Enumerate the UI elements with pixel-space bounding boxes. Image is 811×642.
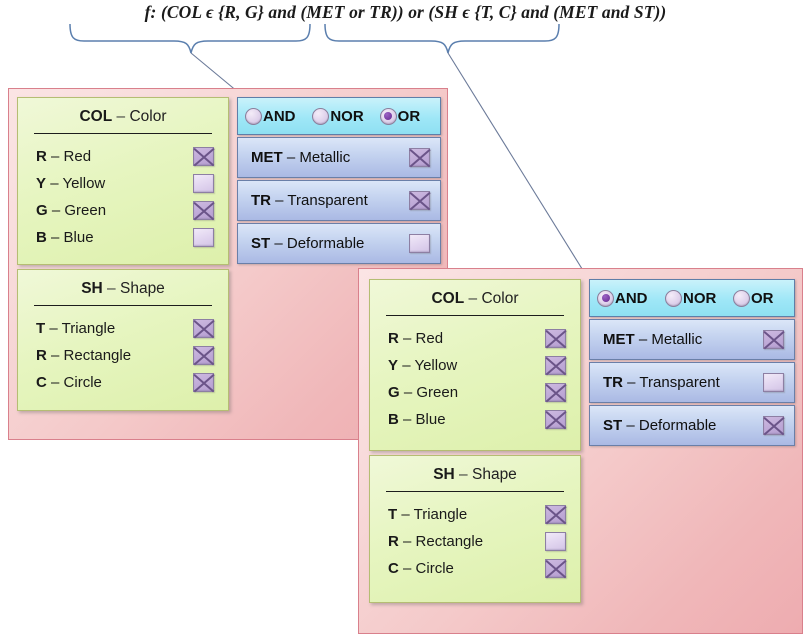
option-label: Green [64,202,106,219]
property-row-st[interactable]: ST – Deformable [589,405,795,446]
property-label: Transparent [639,374,719,391]
property-label: Transparent [287,192,367,209]
property-separator: – [639,331,647,348]
logic-panel: AND NOR OR MET – Metallic TR – Tra [237,97,441,264]
option-code: R [36,347,47,364]
property-separator: – [626,417,634,434]
option-label: Triangle [62,320,116,337]
option-row-color-y[interactable]: Y – Yellow [18,170,228,197]
divider [386,491,564,492]
property-row-tr[interactable]: TR – Transparent [589,362,795,403]
option-separator: – [401,506,409,523]
option-row-color-y[interactable]: Y – Yellow [370,352,580,379]
color-card-title: COL – Color [18,98,228,133]
option-label: Green [416,384,458,401]
property-row-met[interactable]: MET – Metallic [237,137,441,178]
color-card-title: COL – Color [370,280,580,315]
option-code: G [388,384,400,401]
option-code: Y [388,357,398,374]
option-separator: – [403,411,411,428]
option-code: R [388,330,399,347]
operator-option-or[interactable]: OR [726,290,794,307]
option-label: Circle [64,374,102,391]
checkbox-checked-icon[interactable] [193,319,214,338]
operator-selector: AND NOR OR [589,279,795,317]
operator-label: NOR [330,108,363,125]
option-row-color-b[interactable]: B – Blue [18,224,228,251]
option-label: Red [64,148,92,165]
operator-option-or[interactable]: OR [373,108,440,125]
option-separator: – [51,347,59,364]
operator-option-nor[interactable]: NOR [658,290,726,307]
connector-line-left [191,53,238,92]
divider [34,133,212,134]
option-separator: – [51,148,59,165]
operator-option-and[interactable]: AND [590,290,658,307]
property-separator: – [274,235,282,252]
option-separator: – [52,202,60,219]
property-label: Deformable [287,235,365,252]
property-text: ST – Deformable [603,417,763,434]
option-code: B [388,411,399,428]
property-code: MET [251,149,283,166]
option-row-shape-r[interactable]: R – Rectangle [370,528,580,555]
operator-label: OR [398,108,421,125]
option-separator: – [403,330,411,347]
checkbox-checked-icon[interactable] [545,329,566,348]
property-separator: – [287,149,295,166]
divider [386,315,564,316]
option-code: Y [36,175,46,192]
color-card-code: COL [431,290,464,307]
option-separator: – [402,357,410,374]
divider [34,305,212,306]
property-code: MET [603,331,635,348]
color-attribute-card: COL – Color R – Red Y – Yellow G – Green… [17,97,229,265]
property-label: Deformable [639,417,717,434]
shape-attribute-card: SH – Shape T – Triangle R – Rectangle C … [17,269,229,411]
option-label: Red [416,330,444,347]
option-code: C [36,374,47,391]
property-code: ST [251,235,270,252]
radio-unselected-icon[interactable] [245,108,262,125]
option-row-color-b[interactable]: B – Blue [370,406,580,433]
radio-unselected-icon[interactable] [733,290,750,307]
shape-card-separator: – [107,280,116,297]
property-code: TR [251,192,271,209]
checkbox-unchecked-icon[interactable] [763,373,784,392]
checkbox-unchecked-icon[interactable] [545,532,566,551]
property-row-met[interactable]: MET – Metallic [589,319,795,360]
property-row-tr[interactable]: TR – Transparent [237,180,441,221]
radio-selected-icon[interactable] [597,290,614,307]
operator-label: AND [615,290,648,307]
property-text: MET – Metallic [251,149,409,166]
property-separator: – [275,192,283,209]
option-separator: – [50,175,58,192]
option-separator: – [49,320,57,337]
checkbox-checked-icon[interactable] [193,147,214,166]
option-row-color-g[interactable]: G – Green [18,197,228,224]
option-label: Rectangle [64,347,132,364]
checkbox-checked-icon[interactable] [763,330,784,349]
option-label: Triangle [414,506,468,523]
color-card-separator: – [117,108,126,125]
property-label: Metallic [299,149,350,166]
option-row-color-r[interactable]: R – Red [18,143,228,170]
option-label: Circle [416,560,454,577]
property-text: ST – Deformable [251,235,409,252]
option-row-shape-c[interactable]: C – Circle [18,369,228,396]
option-row-shape-r[interactable]: R – Rectangle [18,342,228,369]
checkbox-checked-icon[interactable] [193,346,214,365]
connector-line-right [448,53,584,272]
operator-option-nor[interactable]: NOR [305,108,372,125]
option-code: T [36,320,45,337]
option-separator: – [404,384,412,401]
shape-card-word: Shape [120,280,165,297]
option-code: G [36,202,48,219]
shape-card-code: SH [81,280,103,297]
color-card-word: Color [481,290,518,307]
option-row-color-r[interactable]: R – Red [370,325,580,352]
option-separator: – [403,560,411,577]
option-row-shape-c[interactable]: C – Circle [370,555,580,582]
checkbox-checked-icon[interactable] [763,416,784,435]
checkbox-unchecked-icon[interactable] [193,228,214,247]
option-row-shape-t[interactable]: T – Triangle [18,315,228,342]
checkbox-checked-icon[interactable] [193,373,214,392]
operator-label: AND [263,108,296,125]
option-label: Yellow [62,175,105,192]
radio-unselected-icon[interactable] [312,108,329,125]
radio-selected-icon[interactable] [380,108,397,125]
checkbox-checked-icon[interactable] [545,410,566,429]
property-text: TR – Transparent [603,374,763,391]
option-code: B [36,229,47,246]
color-attribute-card: COL – Color R – Red Y – Yellow G – Green… [369,279,581,451]
clause-group-right: COL – Color R – Red Y – Yellow G – Green… [358,268,803,634]
option-separator: – [51,374,59,391]
option-label: Blue [416,411,446,428]
shape-card-code: SH [433,466,455,483]
checkbox-checked-icon[interactable] [409,148,430,167]
checkbox-checked-icon[interactable] [545,356,566,375]
shape-card-title: SH – Shape [370,456,580,491]
operator-option-and[interactable]: AND [238,108,305,125]
property-separator: – [627,374,635,391]
option-label: Rectangle [416,533,484,550]
color-card-word: Color [129,108,166,125]
operator-label: OR [751,290,774,307]
property-text: MET – Metallic [603,331,763,348]
option-code: T [388,506,397,523]
checkbox-checked-icon[interactable] [545,559,566,578]
formula-expression: f: (COL ϵ {R, G} and (MET or TR)) or (SH… [0,2,811,23]
radio-unselected-icon[interactable] [665,290,682,307]
checkbox-checked-icon[interactable] [193,201,214,220]
checkbox-checked-icon[interactable] [545,505,566,524]
color-card-separator: – [469,290,478,307]
option-separator: – [403,533,411,550]
shape-attribute-card: SH – Shape T – Triangle R – Rectangle C … [369,455,581,603]
option-row-color-g[interactable]: G – Green [370,379,580,406]
checkbox-checked-icon[interactable] [545,383,566,402]
property-code: TR [603,374,623,391]
option-separator: – [51,229,59,246]
checkbox-checked-icon[interactable] [409,191,430,210]
operator-label: NOR [683,290,716,307]
operator-selector: AND NOR OR [237,97,441,135]
property-row-st[interactable]: ST – Deformable [237,223,441,264]
curly-brace-icon-left [70,24,310,53]
checkbox-unchecked-icon[interactable] [409,234,430,253]
property-code: ST [603,417,622,434]
logic-panel: AND NOR OR MET – Metallic TR – Tra [589,279,795,446]
curly-brace-icon-right [325,24,559,53]
option-code: C [388,560,399,577]
shape-card-word: Shape [472,466,517,483]
shape-card-title: SH – Shape [18,270,228,305]
checkbox-unchecked-icon[interactable] [193,174,214,193]
option-label: Blue [64,229,94,246]
option-row-shape-t[interactable]: T – Triangle [370,501,580,528]
option-label: Yellow [414,357,457,374]
option-code: R [36,148,47,165]
property-label: Metallic [651,331,702,348]
option-code: R [388,533,399,550]
color-card-code: COL [79,108,112,125]
shape-card-separator: – [459,466,468,483]
property-text: TR – Transparent [251,192,409,209]
